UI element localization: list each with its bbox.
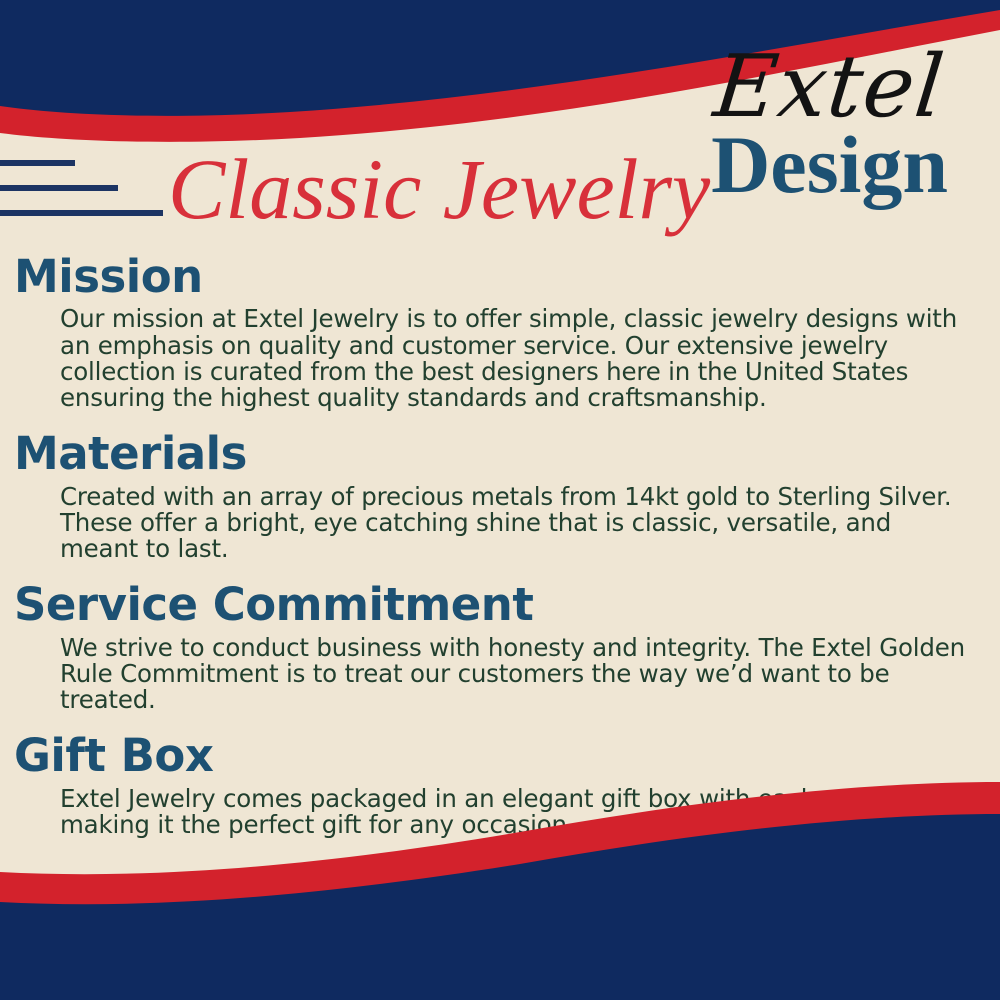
section-service-commitment: Service Commitment We strive to conduct … — [0, 580, 1000, 713]
section-heading-service-commitment: Service Commitment — [14, 580, 1000, 630]
section-materials: Materials Created with an array of preci… — [0, 429, 1000, 562]
decorative-rule — [0, 210, 163, 216]
section-mission: Mission Our mission at Extel Jewelry is … — [0, 252, 1000, 411]
decorative-rule — [865, 810, 1000, 816]
section-heading-gift-box: Gift Box — [14, 731, 1000, 781]
decorative-rule — [910, 785, 1000, 791]
section-body-mission: Our mission at Extel Jewelry is to offer… — [60, 306, 970, 411]
content-sections: Mission Our mission at Extel Jewelry is … — [0, 252, 1000, 838]
brand-script-name: Extel — [529, 44, 948, 130]
decorative-rule — [0, 185, 118, 191]
page-title: Classic Jewelry — [168, 146, 710, 232]
section-body-materials: Created with an array of precious metals… — [60, 484, 970, 563]
section-heading-materials: Materials — [14, 429, 1000, 479]
decorative-rule — [0, 160, 75, 166]
decorative-rules-top-left — [0, 160, 163, 235]
section-body-service-commitment: We strive to conduct business with hones… — [60, 635, 970, 714]
decorative-rule — [822, 835, 1000, 841]
poster-canvas: Extel Design Classic Jewelry Mission Our… — [0, 0, 1000, 1000]
decorative-rules-bottom-right — [822, 785, 1000, 860]
section-heading-mission: Mission — [14, 252, 1000, 302]
